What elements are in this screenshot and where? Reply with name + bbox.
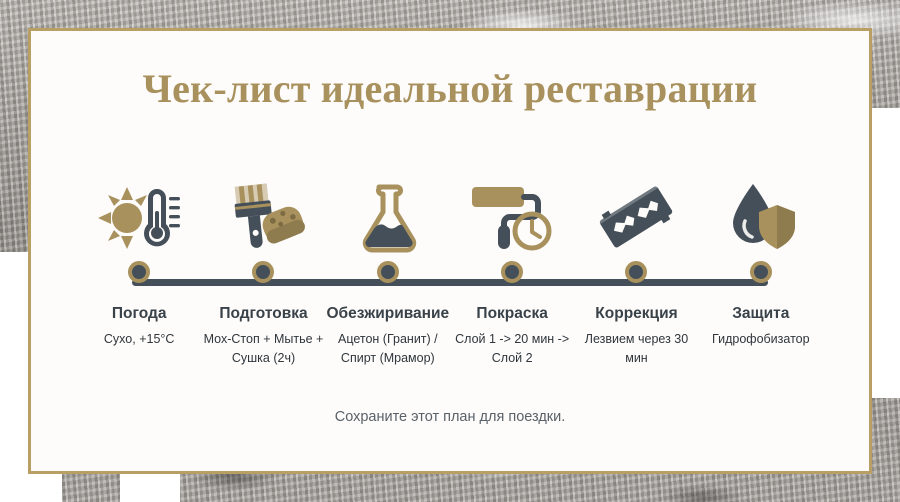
step-title: Коррекция bbox=[595, 305, 677, 323]
paintbrush-sponge-icon bbox=[220, 161, 306, 253]
step-description: Сухо, +15°C bbox=[104, 330, 175, 349]
timeline-node bbox=[750, 261, 772, 283]
step-description: Лезвием через 30 мин bbox=[574, 330, 698, 369]
water-drop-shield-icon bbox=[725, 161, 797, 253]
checklist-timeline: Погода Сухо, +15°C bbox=[77, 161, 823, 391]
timeline-step-painting[interactable]: Покраска Слой 1 -> 20 мин -> Слой 2 bbox=[450, 161, 574, 391]
timeline-node bbox=[377, 261, 399, 283]
timeline-step-degreasing[interactable]: Обезжиривание Ацетон (Гранит) / Спирт (М… bbox=[326, 161, 450, 391]
timeline-node bbox=[501, 261, 523, 283]
timeline-step-protection[interactable]: Защита Гидрофобизатор bbox=[699, 161, 823, 391]
step-description: Гидрофобизатор bbox=[712, 330, 810, 349]
paint-roller-clock-icon bbox=[470, 161, 554, 253]
step-description: Слой 1 -> 20 мин -> Слой 2 bbox=[450, 330, 574, 369]
timeline-node bbox=[252, 261, 274, 283]
timeline-node bbox=[128, 261, 150, 283]
slide-canvas: Чек-лист идеальной реставрации bbox=[0, 0, 900, 502]
step-title: Подготовка bbox=[219, 305, 307, 323]
timeline-step-preparation[interactable]: Подготовка Мох-Стоп + Мытье + Сушка (2ч) bbox=[201, 161, 325, 391]
step-description: Ацетон (Гранит) / Спирт (Мрамор) bbox=[326, 330, 450, 369]
step-title: Покраска bbox=[476, 305, 547, 323]
step-description: Мох-Стоп + Мытье + Сушка (2ч) bbox=[201, 330, 325, 369]
timeline-step-correction[interactable]: Коррекция Лезвием через 30 мин bbox=[574, 161, 698, 391]
step-title: Защита bbox=[732, 305, 789, 323]
timeline-node bbox=[625, 261, 647, 283]
timeline-steps: Погода Сухо, +15°C bbox=[77, 161, 823, 391]
timeline-step-weather[interactable]: Погода Сухо, +15°C bbox=[77, 161, 201, 391]
footer-note: Сохраните этот план для поездки. bbox=[31, 409, 869, 425]
razor-blade-icon bbox=[598, 161, 674, 253]
content-card: Чек-лист идеальной реставрации bbox=[28, 28, 872, 474]
step-title: Обезжиривание bbox=[326, 305, 449, 323]
step-title: Погода bbox=[112, 305, 167, 323]
page-title: Чек-лист идеальной реставрации bbox=[31, 65, 869, 112]
flask-icon bbox=[356, 161, 420, 253]
sun-thermometer-icon bbox=[97, 161, 181, 253]
